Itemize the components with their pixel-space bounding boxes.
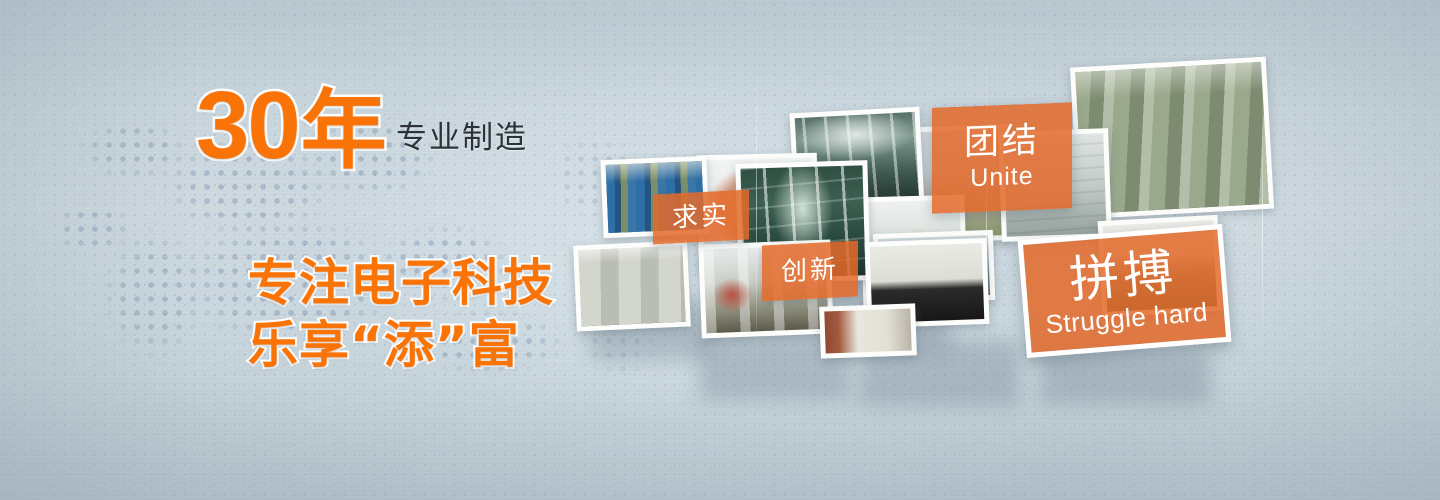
- slogan-panel-text: 创新: [781, 255, 839, 286]
- photo-workshop-door: [824, 309, 911, 354]
- slogan-panel-innovate[interactable]: 创新: [762, 240, 858, 301]
- photo-card-workshop-door[interactable]: [819, 303, 917, 358]
- card-shadow: [1040, 350, 1210, 404]
- slogan-panel-text: 求实: [672, 201, 730, 232]
- photo-smt-reflow-machine: [578, 246, 685, 327]
- slogan-panel-text: 拼搏 Struggle hard: [1040, 243, 1209, 339]
- slogan-panel-seek-truth[interactable]: 求实: [653, 189, 749, 244]
- slogan-cn-unite: 团结: [964, 123, 1040, 164]
- slogan-panel-struggle[interactable]: 拼搏 Struggle hard: [1018, 224, 1232, 358]
- slogan-panel-unite[interactable]: 团结 Unite: [932, 102, 1072, 213]
- light-streak: [756, 70, 757, 370]
- light-streak: [1262, 90, 1263, 370]
- photo-collage: 求实 创新 团结 Unite 拼搏 Struggle hard: [0, 0, 1440, 500]
- slogan-cn-seek-truth: 求实: [672, 201, 730, 232]
- promo-banner: 30 年 专业制造 专注电子科技 乐享“添”富: [0, 0, 1440, 500]
- slogan-panel-text: 团结 Unite: [964, 123, 1040, 193]
- photo-card-smt-reflow-machine[interactable]: [573, 240, 691, 331]
- slogan-en-unite: Unite: [964, 163, 1040, 193]
- slogan-cn-innovate: 创新: [781, 255, 839, 286]
